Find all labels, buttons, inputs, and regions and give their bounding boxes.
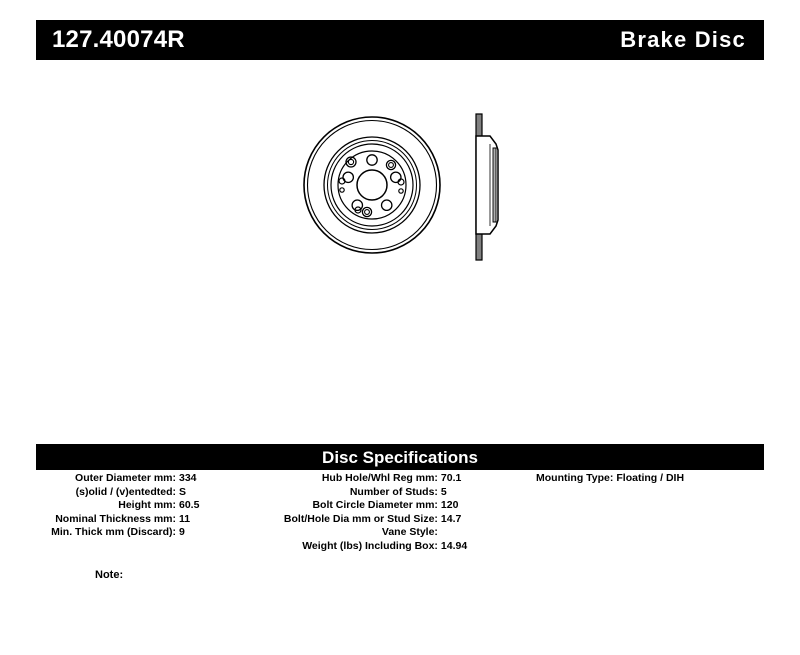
spec-row: Bolt/Hole Dia mm or Stud Size: 14.7: [261, 513, 491, 527]
spec-value: 70.1: [441, 472, 491, 486]
spec-row: Weight (lbs) Including Box: 14.94: [261, 540, 491, 554]
spec-column-left: Outer Diameter mm: 334 (s)olid / (v)ente…: [36, 472, 256, 540]
spec-value: S: [179, 486, 255, 500]
spec-row: Vane Style:: [261, 526, 491, 540]
spec-label: Hub Hole/Whl Reg mm:: [261, 472, 441, 486]
spec-value: 60.5: [179, 499, 255, 513]
spec-value: 11: [179, 513, 255, 527]
brake-rotor-face-view: [304, 117, 440, 253]
spec-value: 14.94: [441, 540, 491, 554]
brake-rotor-edge-profile-view: [476, 114, 498, 260]
product-header-bar: 127.40074R Brake Disc: [36, 20, 764, 60]
spec-row: (s)olid / (v)entedted: S: [36, 486, 256, 500]
note-label: Note:: [95, 570, 123, 581]
spec-label: Number of Studs:: [261, 486, 441, 500]
spec-column-middle: Hub Hole/Whl Reg mm: 70.1 Number of Stud…: [261, 472, 491, 554]
spec-row: Number of Studs: 5: [261, 486, 491, 500]
spec-row: Height mm: 60.5: [36, 499, 256, 513]
spec-value: Floating / DIH: [616, 472, 684, 486]
spec-value: 14.7: [441, 513, 491, 527]
product-type-title: Brake Disc: [620, 29, 746, 51]
spec-value: 120: [441, 499, 491, 513]
spec-column-right: Mounting Type: Floating / DIH: [536, 472, 776, 486]
spec-label: Bolt/Hole Dia mm or Stud Size:: [261, 513, 441, 527]
spec-value: 334: [179, 472, 255, 486]
spec-row: Outer Diameter mm: 334: [36, 472, 256, 486]
spec-label: Min. Thick mm (Discard):: [36, 526, 179, 540]
spec-label: Weight (lbs) Including Box:: [261, 540, 441, 554]
spec-value: 9: [179, 526, 255, 540]
spec-label: (s)olid / (v)entedted:: [36, 486, 179, 500]
spec-row: Nominal Thickness mm: 11: [36, 513, 256, 527]
spec-label: Vane Style:: [261, 526, 441, 540]
spec-row: Mounting Type: Floating / DIH: [536, 472, 776, 486]
spec-label: Mounting Type:: [536, 472, 616, 486]
spec-row: Bolt Circle Diameter mm: 120: [261, 499, 491, 513]
spec-label: Bolt Circle Diameter mm:: [261, 499, 441, 513]
spec-row: Hub Hole/Whl Reg mm: 70.1: [261, 472, 491, 486]
spec-row: Min. Thick mm (Discard): 9: [36, 526, 256, 540]
spec-label: Height mm:: [36, 499, 179, 513]
spec-value: [441, 526, 491, 540]
spec-label: Outer Diameter mm:: [36, 472, 179, 486]
disc-specifications-title: Disc Specifications: [322, 449, 478, 466]
product-illustration: [280, 100, 540, 290]
spec-value: 5: [441, 486, 491, 500]
spec-label: Nominal Thickness mm:: [36, 513, 179, 527]
part-number: 127.40074R: [52, 28, 185, 52]
disc-specifications-bar: Disc Specifications: [36, 444, 764, 470]
specifications-table: Outer Diameter mm: 334 (s)olid / (v)ente…: [36, 472, 776, 572]
